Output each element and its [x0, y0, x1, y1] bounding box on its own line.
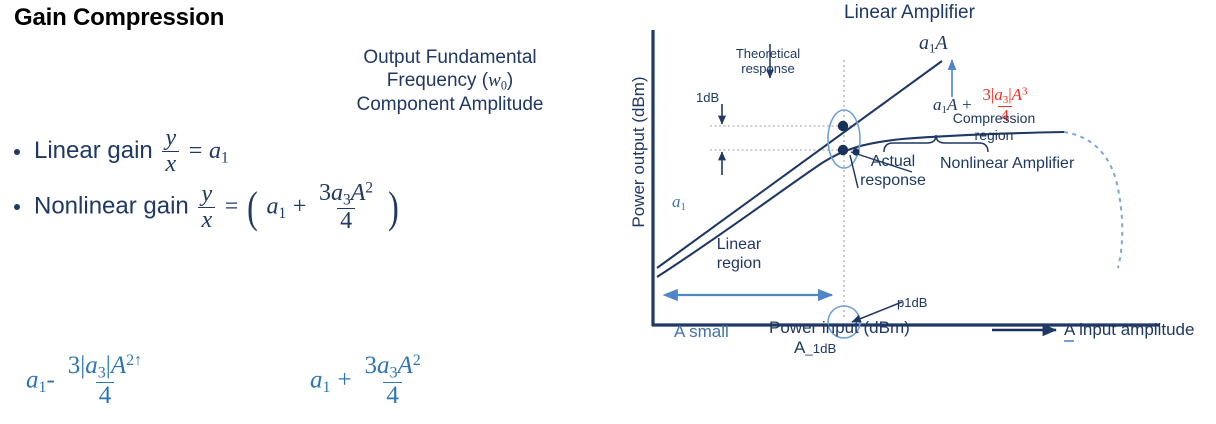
- chart-graphics: [612, 0, 1216, 424]
- bullet-linear-gain-content: Linear gain y x = a1: [34, 126, 229, 177]
- nonlinear-gain-equals: =: [225, 194, 239, 220]
- term-amplitude: A: [351, 180, 366, 206]
- linear-gain-numerator: y: [162, 126, 179, 151]
- nonlinear-term-numerator: 3a3A2: [316, 180, 376, 208]
- nonlinear-term-denominator: 4: [337, 208, 355, 234]
- compression-line-1: Compression: [953, 110, 1035, 126]
- term-a-var: a: [331, 180, 343, 206]
- minus-fraction: 3|a3|A2↑ 4: [65, 352, 145, 410]
- formula-gain-plus: a1 + 3a3A2 4: [310, 352, 427, 410]
- minus-denominator: 4: [96, 382, 115, 409]
- a-amplitude-var: A: [1064, 320, 1074, 342]
- output-fundamental-caption: Output Fundamental Frequency (w0) Compon…: [300, 46, 600, 117]
- minus-num-sub: 3: [98, 364, 106, 381]
- minus-numerator: 3|a3|A2↑: [65, 352, 145, 382]
- theoretical-response-label: Theoretical response: [725, 46, 811, 77]
- nonlinear-rolloff-curve: [1064, 132, 1122, 268]
- bullet-linear-gain-label: Linear gain: [34, 137, 153, 164]
- slope-a1-sub: 1: [681, 201, 686, 213]
- nonlinear-gain-operator: +: [293, 194, 307, 220]
- a-1db-letter: A: [794, 338, 805, 357]
- a1A-label: a1A: [919, 32, 948, 57]
- linear-gain-denominator: x: [162, 151, 179, 177]
- bullet-dot-icon: [14, 149, 20, 155]
- minus-operator: -: [47, 366, 55, 393]
- a-1db-label: A_1dB: [794, 338, 836, 358]
- slope-a1-var: a: [672, 192, 681, 211]
- plus-lead-var: a: [310, 366, 323, 393]
- compression-region-label: Compression region: [946, 110, 1042, 144]
- plus-fraction: 3a3A2 4: [362, 352, 424, 410]
- a1A-amplitude: A: [935, 32, 947, 54]
- formula-gain-minus: a1- 3|a3|A2↑ 4: [26, 352, 148, 410]
- page-title: Gain Compression: [14, 4, 224, 32]
- linear-gain-fraction: y x: [162, 126, 179, 177]
- actual-line-2: response: [860, 172, 926, 189]
- linear-region-label: Linear region: [704, 235, 774, 273]
- minus-num-coeff: 3: [68, 352, 81, 379]
- up-arrow-icon: ↑: [134, 352, 142, 369]
- linear-line-1: Linear: [717, 236, 761, 253]
- linear-line-2: region: [717, 255, 761, 272]
- a1A-var: a: [919, 32, 929, 54]
- bullet-nonlinear-gain: Nonlinear gain y x = ( a1 + 3a3A2 4 ): [14, 180, 401, 235]
- theoretical-line-2: response: [741, 61, 794, 76]
- a-small-label: A small: [674, 322, 729, 342]
- nonlinear-gain-term: 3a3A2 4: [316, 180, 376, 235]
- plus-operator: +: [337, 366, 351, 393]
- plus-num-amp: A: [398, 352, 413, 379]
- nonlinear-gain-denominator: x: [198, 207, 215, 233]
- term-exponent: 2: [365, 179, 373, 196]
- minus-lead-var: a: [26, 366, 39, 393]
- caption-line-1: Output Fundamental: [300, 46, 600, 69]
- comp-num-amp: A: [1012, 85, 1022, 104]
- comp-num-coeff: 3: [982, 85, 991, 104]
- linear-gain-a: a: [209, 138, 221, 164]
- compression-line-2: region: [975, 127, 1014, 143]
- close-paren: ): [388, 190, 399, 226]
- plus-num-var: a: [377, 352, 390, 379]
- bullet-linear-gain: Linear gain y x = a1: [14, 126, 229, 177]
- caption-line-2: Frequency (w0): [300, 69, 600, 93]
- nonlinear-gain-numerator: y: [198, 182, 215, 207]
- comp-lead-var: a: [933, 95, 942, 114]
- term-a-sub: 3: [343, 191, 351, 208]
- nonlinear-gain-a: a: [266, 194, 278, 220]
- bullet-nonlinear-gain-label: Nonlinear gain: [34, 193, 189, 220]
- minus-num-var: a: [85, 352, 98, 379]
- one-db-label: 1dB: [696, 90, 719, 105]
- actual-response-label: Actual response: [851, 152, 935, 190]
- theoretical-point-marker: [838, 121, 848, 131]
- theoretical-line-1: Theoretical: [736, 46, 800, 61]
- caption-frequency-text: Frequency (: [387, 70, 488, 91]
- caption-line-3: Component Amplitude: [300, 93, 600, 116]
- plus-denominator: 4: [383, 382, 402, 409]
- bullet-dot-icon: [14, 204, 20, 210]
- comp-numerator: 3|a3|A3: [979, 86, 1030, 106]
- caption-close-paren: ): [507, 70, 513, 91]
- actual-line-1: Actual: [871, 153, 915, 170]
- term-coeff: 3: [319, 180, 331, 206]
- linear-gain-a-sub: 1: [221, 149, 229, 166]
- a-1db-subscript: _1dB: [805, 341, 836, 356]
- plus-numerator: 3a3A2: [362, 352, 424, 382]
- gain-compression-chart: Linear Amplifier Power output (dBm) Theo…: [612, 0, 1216, 424]
- caption-omega-var: w: [488, 70, 501, 91]
- nonlinear-gain-fraction: y x: [198, 182, 215, 233]
- a-amplitude-text: input amplitude: [1074, 320, 1194, 339]
- minus-num-exp: 2: [126, 352, 134, 369]
- slope-a1-label: a1: [672, 192, 686, 213]
- actual-point-marker: [838, 145, 848, 155]
- plus-lead-sub: 1: [323, 379, 331, 396]
- comp-num-exp: 3: [1022, 86, 1027, 98]
- plus-num-coeff: 3: [365, 352, 378, 379]
- comp-num-var: a: [994, 85, 1003, 104]
- plus-num-sub: 3: [390, 364, 398, 381]
- nonlinear-gain-a-sub: 1: [278, 205, 286, 222]
- p1db-label: p1dB: [897, 295, 927, 310]
- y-axis-label: Power output (dBm): [629, 52, 649, 252]
- minus-num-amp: A: [111, 352, 126, 379]
- plus-num-exp: 2: [413, 352, 421, 369]
- bullet-nonlinear-gain-content: Nonlinear gain y x = ( a1 + 3a3A2 4 ): [34, 180, 401, 235]
- a-input-amplitude-label: A input amplitude: [1064, 320, 1194, 340]
- chart-title: Linear Amplifier: [844, 2, 975, 24]
- open-paren: (: [247, 190, 258, 226]
- linear-gain-equals: =: [189, 138, 203, 164]
- nonlinear-amplifier-label: Nonlinear Amplifier: [940, 155, 1074, 173]
- x-axis-label: Power input (dBm): [769, 318, 910, 338]
- minus-lead-sub: 1: [39, 379, 47, 396]
